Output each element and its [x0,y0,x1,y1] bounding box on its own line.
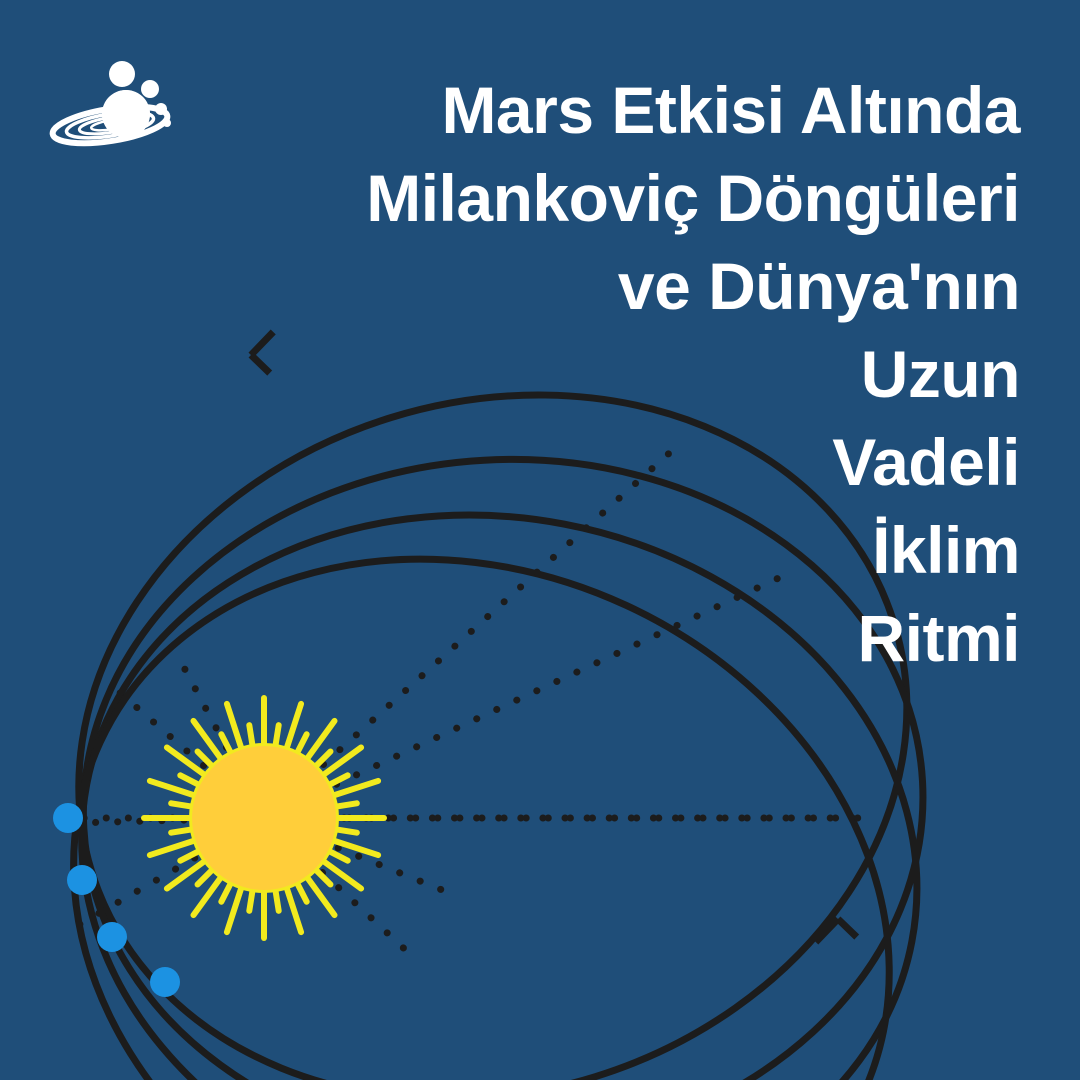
earth-position-dot-icon [53,803,83,833]
earth-position-dot-icon [67,865,97,895]
title-line-4: Uzun [300,330,1020,418]
title-line-6: İklim [300,506,1020,594]
sun-icon [144,698,384,938]
earth-position-dot-icon [150,967,180,997]
title-line-3: ve Dünya'nın [300,242,1020,330]
radial-dotted-line [338,848,459,897]
counterclockwise-arrow-top-left-icon [251,332,292,373]
brand-logo-icon[interactable] [44,52,184,162]
title-line-7: Ritmi [300,594,1020,682]
page-title: Mars Etkisi Altında Milankoviç Döngüleri… [300,66,1020,682]
title-line-1: Mars Etkisi Altında [300,66,1020,154]
sun-core [192,746,336,890]
title-line-5: Vadeli [300,418,1020,506]
poster-canvas: Mars Etkisi Altında Milankoviç Döngüleri… [0,0,1080,1080]
earth-position-dot-icon [97,922,127,952]
title-line-2: Milankoviç Döngüleri [300,154,1020,242]
